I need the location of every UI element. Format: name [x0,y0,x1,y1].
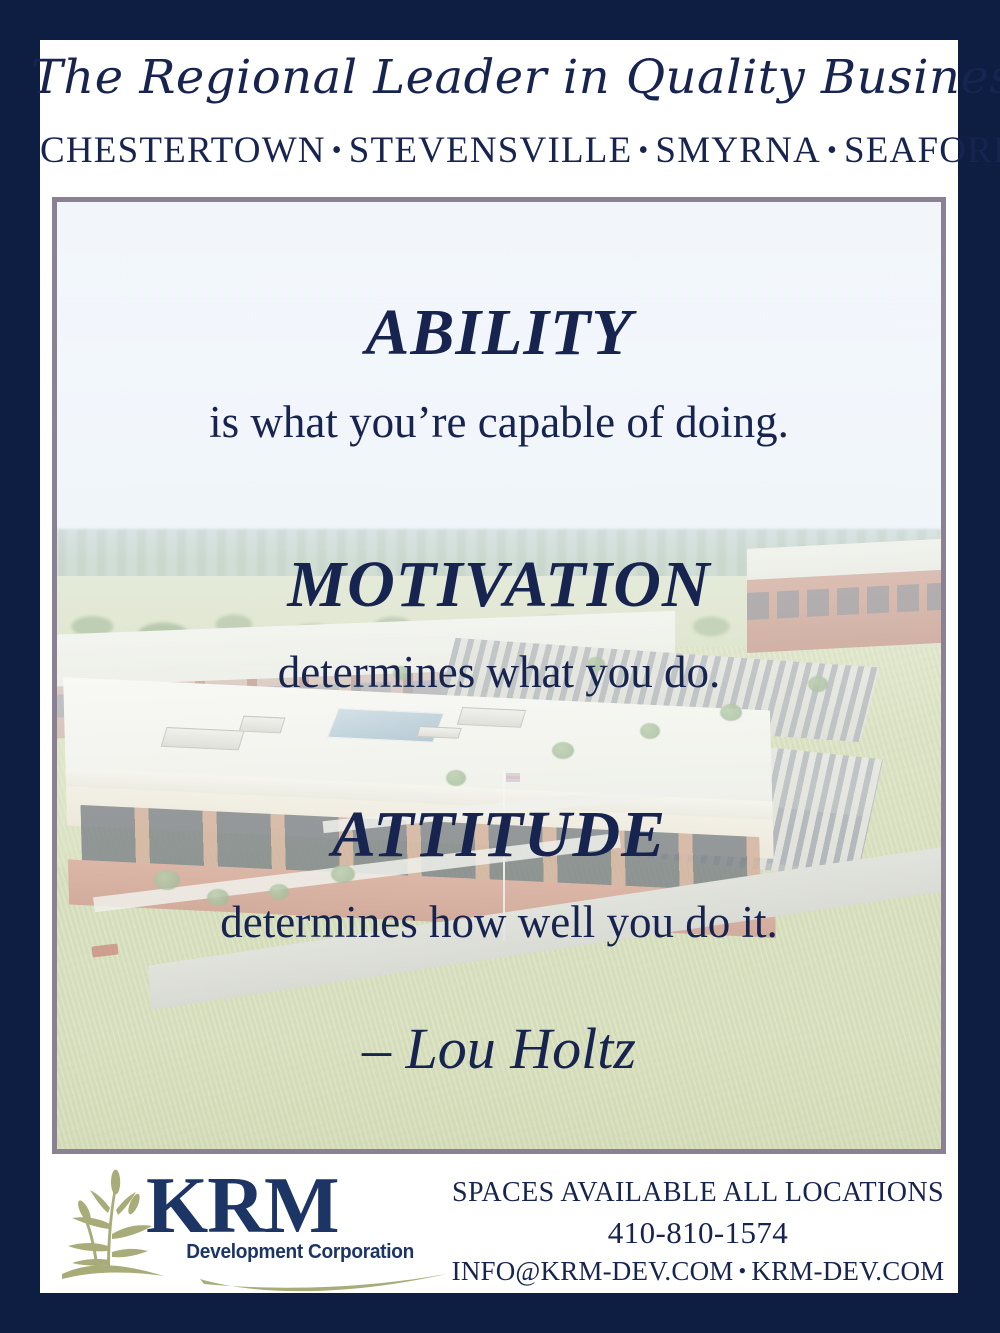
email-address[interactable]: INFO@KRM-DEV.COM [452,1256,734,1286]
location-chestertown: CHESTERTOWN [40,130,326,171]
krm-wordmark: KRM [146,1170,446,1244]
quote-word-motivation: MOTIVATION [57,552,941,618]
krm-logo[interactable]: KRM Development Corporation [58,1166,448,1288]
quote-overlay: ABILITY is what you’re capable of doing.… [57,202,941,1149]
quote-line-attitude: determines how well you do it. [57,900,941,945]
location-stevensville: STEVENSVILLE [349,130,633,171]
quote-block-attribution: – Lou Holtz [57,1020,941,1078]
availability-text: SPACES AVAILABLE ALL LOCATIONS [448,1174,948,1212]
contact-block: SPACES AVAILABLE ALL LOCATIONS 410-810-1… [448,1174,948,1289]
quote-line-ability: is what you’re capable of doing. [57,400,941,445]
hero-photo-panel: ABILITY is what you’re capable of doing.… [52,197,946,1154]
ad-page: The Regional Leader in Quality Business … [40,40,958,1293]
header-locations: CHESTERTOWN•STEVENSVILLE•SMYRNA•SEAFORD [40,132,958,169]
header: The Regional Leader in Quality Business … [40,40,958,195]
location-smyrna: SMYRNA [655,130,821,171]
logo-swoosh-icon [198,1270,448,1296]
quote-word-ability: ABILITY [57,300,941,366]
footer: KRM Development Corporation SPACES AVAIL… [40,1158,958,1293]
quote-line-motivation: determines what you do. [57,650,941,695]
ad-outer-frame: The Regional Leader in Quality Business … [0,0,1000,1333]
quote-word-attitude: ATTITUDE [57,802,941,868]
location-separator-1: • [326,135,349,166]
location-separator-2: • [632,135,655,166]
quote-attribution: – Lou Holtz [57,1020,941,1078]
location-seaford: SEAFORD [844,130,1000,171]
header-tagline: The Regional Leader in Quality Business … [31,54,967,101]
phone-number[interactable]: 410-810-1574 [448,1212,948,1254]
contact-separator: • [733,1258,751,1283]
quote-block-ability: ABILITY is what you’re capable of doing. [57,300,941,445]
krm-subtitle: Development Corporation [165,1242,414,1263]
quote-block-motivation: MOTIVATION determines what you do. [57,552,941,695]
location-separator-3: • [821,135,844,166]
krm-logo-text: KRM Development Corporation [146,1170,446,1262]
website-url[interactable]: KRM-DEV.COM [751,1256,944,1286]
email-and-website: INFO@KRM-DEV.COM•KRM-DEV.COM [448,1253,948,1289]
quote-block-attitude: ATTITUDE determines how well you do it. [57,802,941,945]
